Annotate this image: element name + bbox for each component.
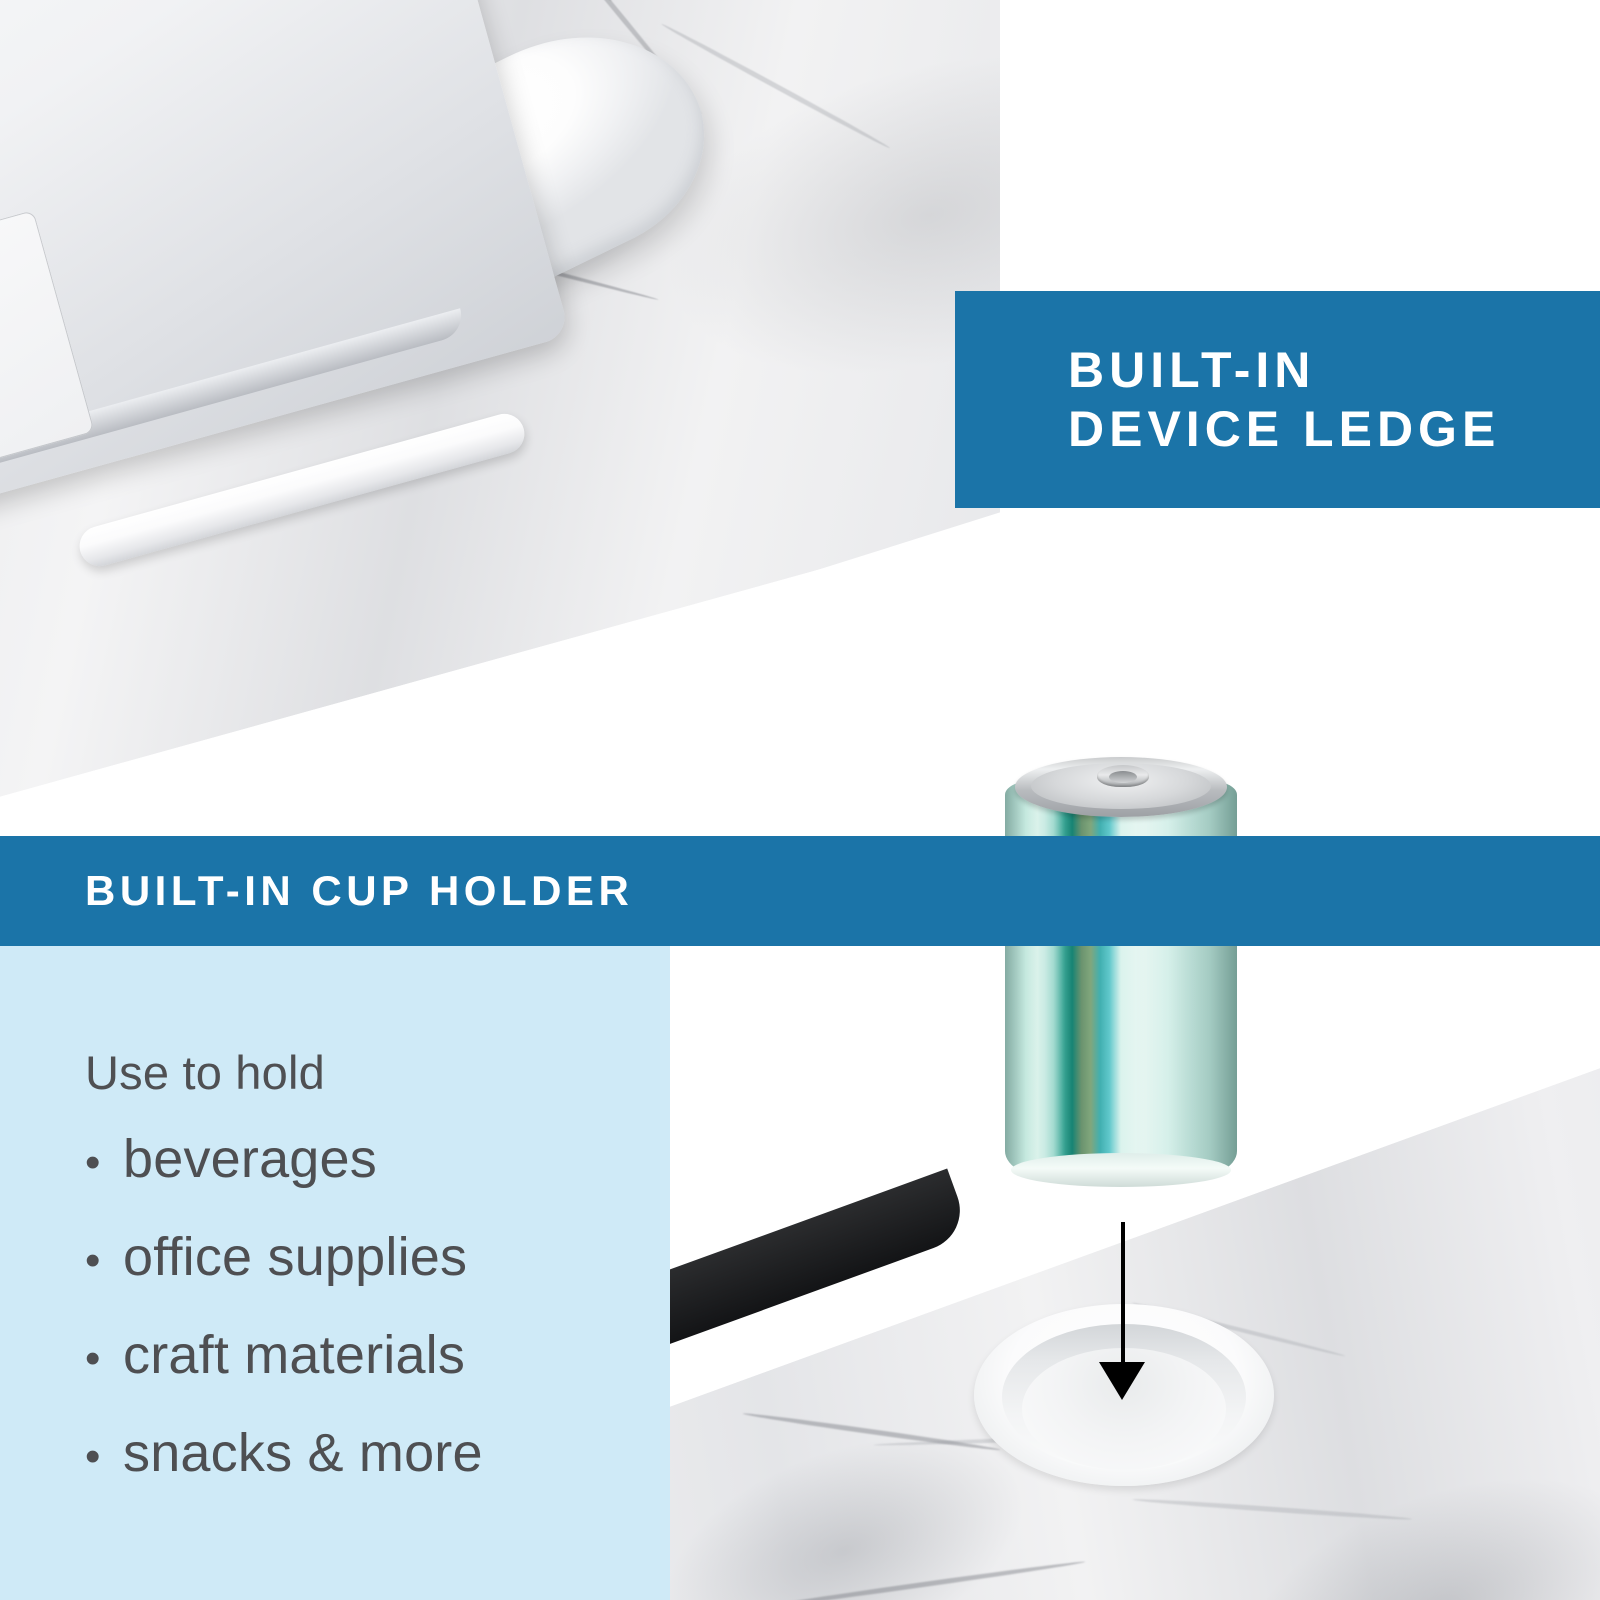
uses-list: • beverages • office supplies • craft ma… xyxy=(85,1128,483,1520)
bullet-icon: • xyxy=(85,1239,123,1283)
bullet-icon: • xyxy=(85,1141,123,1185)
banner-cup-holder: BUILT-IN CUP HOLDER xyxy=(0,836,1600,946)
arrow-head xyxy=(1099,1362,1145,1400)
arrow-shaft xyxy=(1121,1222,1125,1370)
list-item-label: office supplies xyxy=(123,1226,467,1288)
top-product-photo: F11 ◀)) ⏻ + = delete [ ] \ return ; ' sh… xyxy=(0,0,1000,830)
infographic-root: F11 ◀)) ⏻ + = delete [ ] \ return ; ' sh… xyxy=(0,0,1600,1600)
list-item: • beverages xyxy=(85,1128,483,1190)
list-item-label: craft materials xyxy=(123,1324,465,1386)
list-item-label: snacks & more xyxy=(123,1422,483,1484)
uses-heading: Use to hold xyxy=(85,1045,325,1100)
bullet-icon: • xyxy=(85,1435,123,1479)
banner-device-ledge-label: BUILT-IN DEVICE LEDGE xyxy=(955,341,1500,459)
bottom-product-photo xyxy=(670,946,1600,1600)
list-item: • craft materials xyxy=(85,1324,483,1386)
bullet-icon: • xyxy=(85,1337,123,1381)
drop-direction-arrow-icon xyxy=(1118,1222,1128,1398)
list-item: • snacks & more xyxy=(85,1422,483,1484)
can-tab-rivet xyxy=(1109,771,1137,783)
list-item: • office supplies xyxy=(85,1226,483,1288)
list-item-label: beverages xyxy=(123,1128,377,1190)
banner-device-ledge: BUILT-IN DEVICE LEDGE xyxy=(955,291,1600,508)
banner-cup-holder-label: BUILT-IN CUP HOLDER xyxy=(0,866,633,916)
